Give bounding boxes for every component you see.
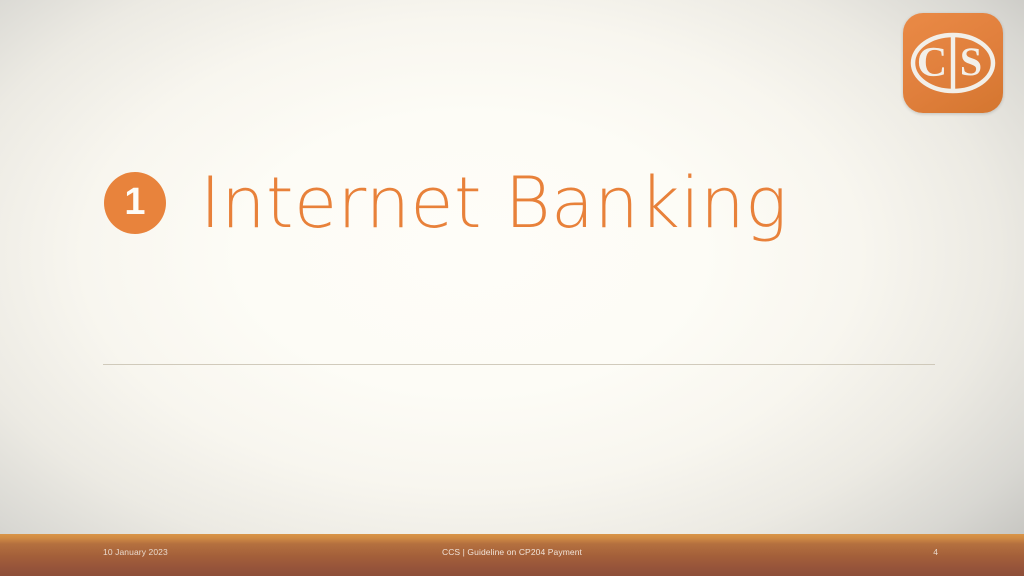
slide: C S 1 Internet Banking 10 January 2023 C… <box>0 0 1024 576</box>
footer-page-number: 4 <box>933 547 938 557</box>
slide-footer: 10 January 2023 CCS | Guideline on CP204… <box>0 534 1024 576</box>
page-title: Internet Banking <box>200 168 788 238</box>
slide-number-badge-label: 1 <box>124 183 145 221</box>
svg-text:C: C <box>917 40 947 86</box>
slide-number-badge: 1 <box>104 172 166 234</box>
slide-title-row: 1 Internet Banking <box>104 168 788 238</box>
ccs-logo: C S <box>903 13 1003 113</box>
horizontal-divider <box>103 364 935 365</box>
svg-text:S: S <box>960 39 982 84</box>
footer-title: CCS | Guideline on CP204 Payment <box>0 547 1024 557</box>
